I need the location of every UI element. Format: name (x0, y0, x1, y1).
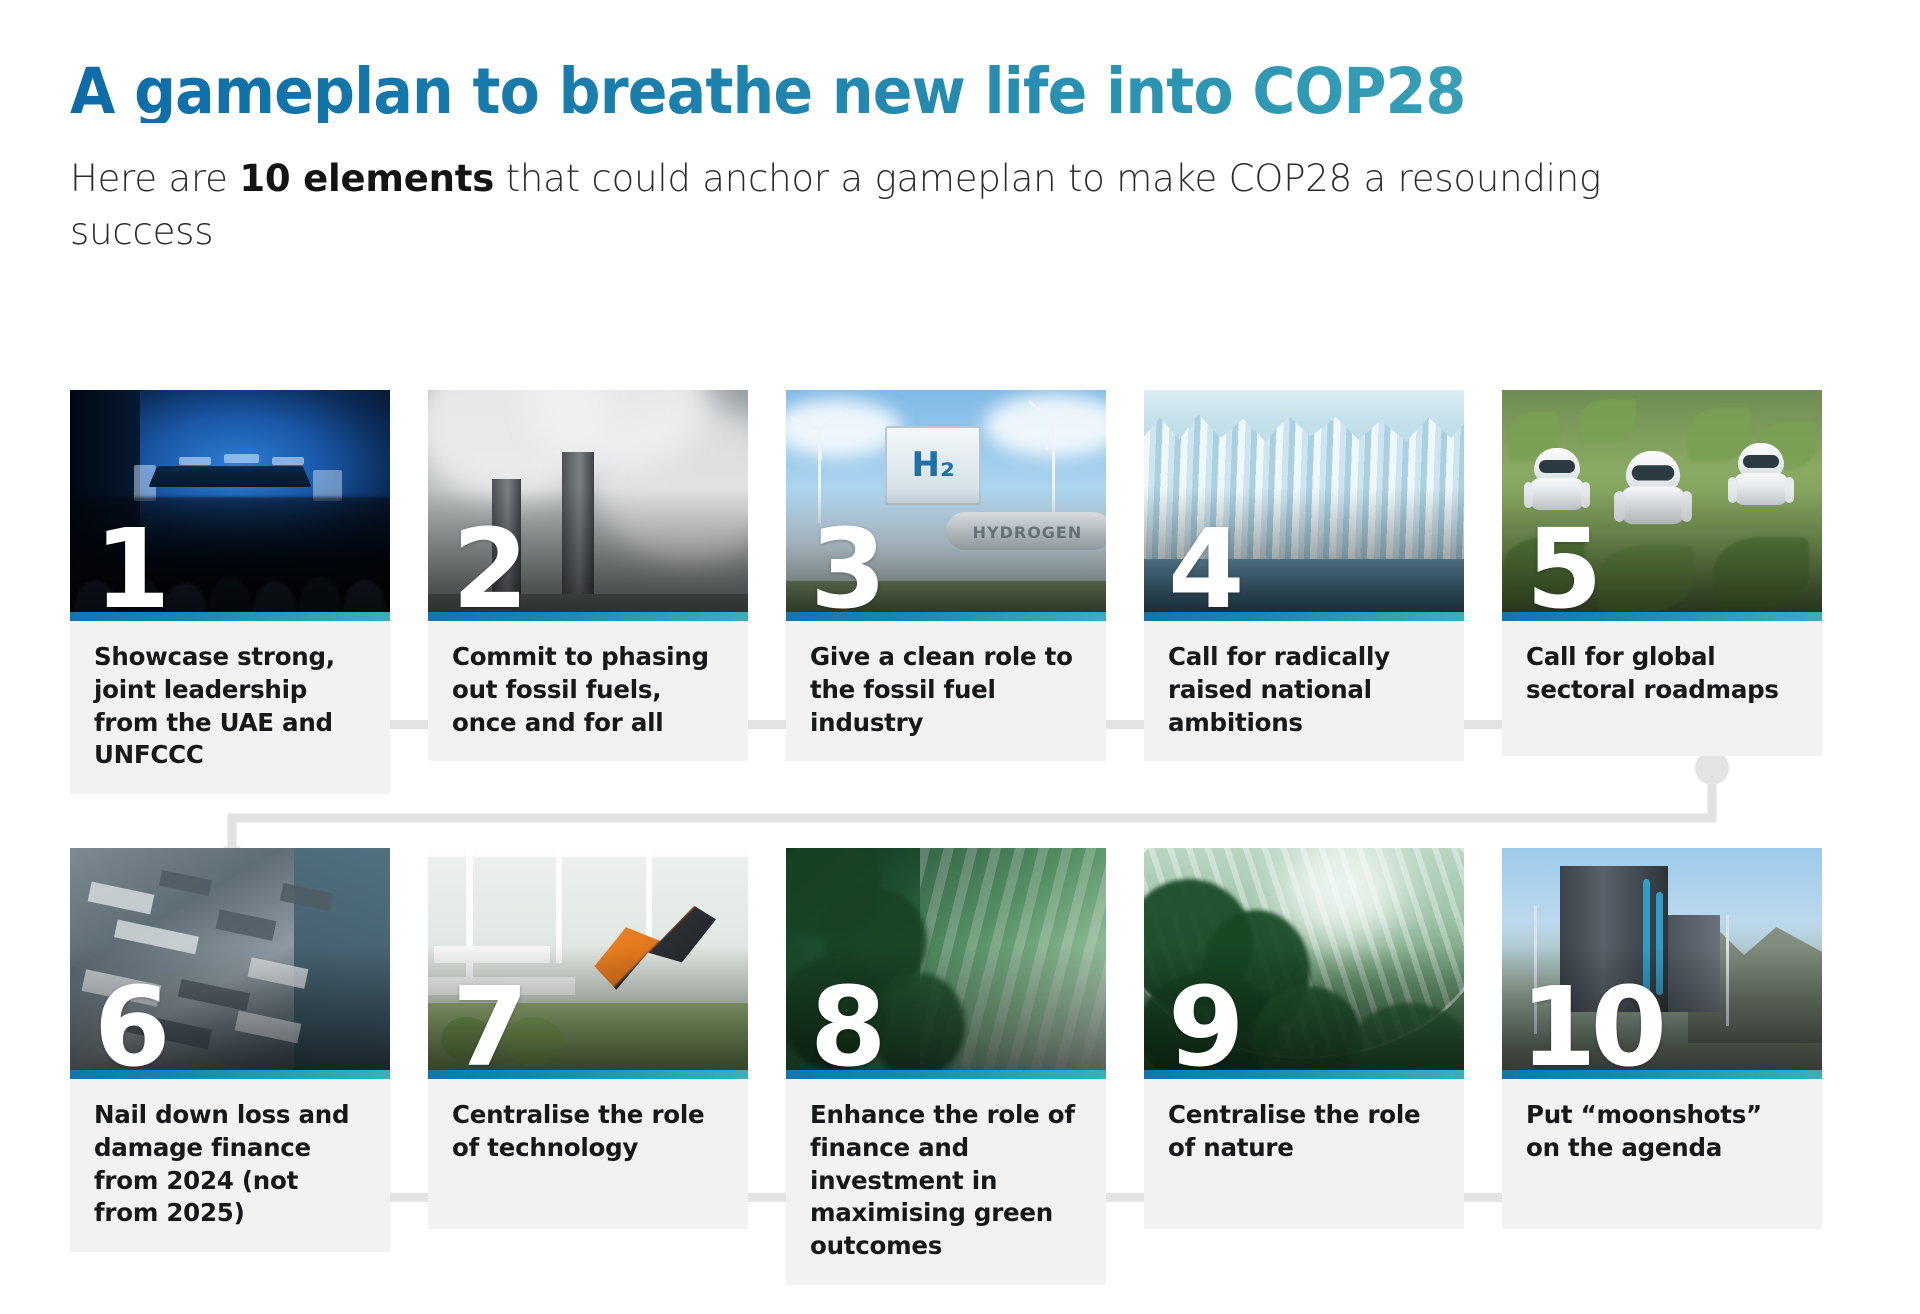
header: A gameplan to breathe new life into COP2… (70, 60, 1860, 259)
card-cell-4: 4 Call for radically raised national amb… (1144, 390, 1502, 794)
card-number-8: 8 (810, 972, 884, 1070)
card-caption-3: Give a clean role to the fossil fuel ind… (786, 621, 1106, 761)
accent-bar-9 (1144, 1070, 1464, 1079)
accent-bar-7 (428, 1070, 748, 1079)
card-number-9: 9 (1168, 972, 1242, 1070)
card-number-2: 2 (452, 514, 526, 612)
card-number-10: 10 (1520, 972, 1661, 1070)
card-cell-2: 2 Commit to phasing out fossil fuels, on… (428, 390, 786, 794)
card-number-1: 1 (94, 514, 168, 612)
accent-bar-6 (70, 1070, 390, 1079)
page-title: A gameplan to breathe new life into COP2… (70, 60, 1735, 123)
card-cell-8: 8 Enhance the role of finance and invest… (786, 848, 1144, 1285)
connector-9-10 (1464, 1193, 1502, 1202)
card-caption-5: Call for global sectoral roadmaps (1502, 621, 1822, 756)
card-number-3: 3 (810, 514, 884, 612)
green-glass-building-photo: 8 (786, 848, 1106, 1070)
conference-auditorium-photo: 1 (70, 390, 390, 612)
hydrogen-plant-photo: H₂ HYDROGEN 3 (786, 390, 1106, 612)
card-caption-6: Nail down loss and damage finance from 2… (70, 1079, 390, 1252)
smokestacks-emissions-photo: 2 (428, 390, 748, 612)
card-caption-1: Showcase strong, joint leadership from t… (70, 621, 390, 794)
subtitle-highlight: 10 elements (239, 157, 494, 200)
card-caption-7: Centralise the role of technology (428, 1079, 748, 1229)
card-number-4: 4 (1168, 514, 1242, 612)
card-cell-10: 10 Put “moonshots” on the agenda (1502, 848, 1860, 1285)
subtitle-pre: Here are (70, 157, 239, 200)
card-cell-6: 6 Nail down loss and damage finance from… (70, 848, 428, 1285)
page-subtitle: Here are 10 elements that could anchor a… (70, 153, 1690, 259)
agricultural-robots-photo: 5 (1502, 390, 1822, 612)
element-card-1[interactable]: 1 Showcase strong, joint leadership from… (70, 390, 390, 794)
connector-8-9 (1106, 1193, 1144, 1202)
accent-bar-3 (786, 612, 1106, 621)
card-caption-4: Call for radically raised national ambit… (1144, 621, 1464, 761)
greenhouse-robot-arm-photo: 7 (428, 848, 748, 1070)
element-card-4[interactable]: 4 Call for radically raised national amb… (1144, 390, 1464, 761)
element-card-6[interactable]: 6 Nail down loss and damage finance from… (70, 848, 390, 1252)
infographic-page: A gameplan to breathe new life into COP2… (0, 0, 1920, 1314)
element-card-3[interactable]: H₂ HYDROGEN 3 Give a clean role to the f… (786, 390, 1106, 761)
connector-7-8 (748, 1193, 786, 1202)
element-card-9[interactable]: 9 Centralise the role of nature (1144, 848, 1464, 1229)
connector-4-5 (1464, 720, 1502, 729)
card-caption-8: Enhance the role of finance and investme… (786, 1079, 1106, 1285)
element-card-2[interactable]: 2 Commit to phasing out fossil fuels, on… (428, 390, 748, 761)
glacier-ice-wall-photo: 4 (1144, 390, 1464, 612)
element-card-7[interactable]: 7 Centralise the role of technology (428, 848, 748, 1229)
card-cell-7: 7 Centralise the role of technology (428, 848, 786, 1285)
disaster-rubble-aerial-photo: 6 (70, 848, 390, 1070)
accent-bar-2 (428, 612, 748, 621)
element-card-8[interactable]: 8 Enhance the role of finance and invest… (786, 848, 1106, 1285)
connector-3-4 (1106, 720, 1144, 729)
connector-2-3 (748, 720, 786, 729)
accent-bar-5 (1502, 612, 1822, 621)
industrial-plant-photo: 10 (1502, 848, 1822, 1070)
card-caption-9: Centralise the role of nature (1144, 1079, 1464, 1229)
accent-bar-8 (786, 1070, 1106, 1079)
card-caption-2: Commit to phasing out fossil fuels, once… (428, 621, 748, 761)
card-cell-3: H₂ HYDROGEN 3 Give a clean role to the f… (786, 390, 1144, 794)
accent-bar-10 (1502, 1070, 1822, 1079)
card-number-5: 5 (1526, 514, 1600, 612)
accent-bar-1 (70, 612, 390, 621)
element-card-5[interactable]: 5 Call for global sectoral roadmaps (1502, 390, 1822, 756)
card-number-7: 7 (452, 972, 526, 1070)
connector-1-2 (390, 720, 428, 729)
card-caption-10: Put “moonshots” on the agenda (1502, 1079, 1822, 1229)
card-cell-1: 1 Showcase strong, joint leadership from… (70, 390, 428, 794)
card-row-1: 1 Showcase strong, joint leadership from… (70, 390, 1860, 794)
connector-6-7 (390, 1193, 428, 1202)
card-cell-9: 9 Centralise the role of nature (1144, 848, 1502, 1285)
accent-bar-4 (1144, 612, 1464, 621)
biodome-forest-photo: 9 (1144, 848, 1464, 1070)
card-number-6: 6 (94, 972, 168, 1070)
card-row-2: 6 Nail down loss and damage finance from… (70, 848, 1860, 1285)
card-cell-5: 5 Call for global sectoral roadmaps (1502, 390, 1860, 794)
element-card-10[interactable]: 10 Put “moonshots” on the agenda (1502, 848, 1822, 1229)
